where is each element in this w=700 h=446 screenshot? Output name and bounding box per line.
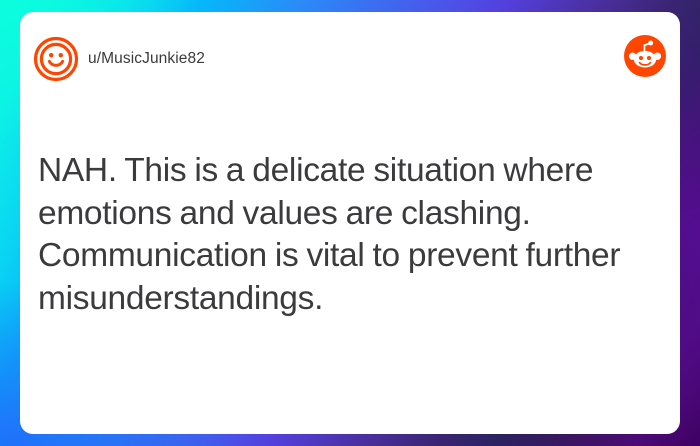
card-header: u/MusicJunkie82 xyxy=(20,12,680,102)
smiley-avatar-icon[interactable] xyxy=(33,36,79,82)
reddit-snoo-icon[interactable] xyxy=(624,35,666,77)
screenshot-root: u/MusicJunkie82 xyxy=(0,0,700,446)
username-label: u/MusicJunkie82 xyxy=(88,47,205,71)
post-body-text: NAH. This is a delicate situation where … xyxy=(38,150,654,320)
reddit-comment-card: u/MusicJunkie82 xyxy=(20,12,680,434)
